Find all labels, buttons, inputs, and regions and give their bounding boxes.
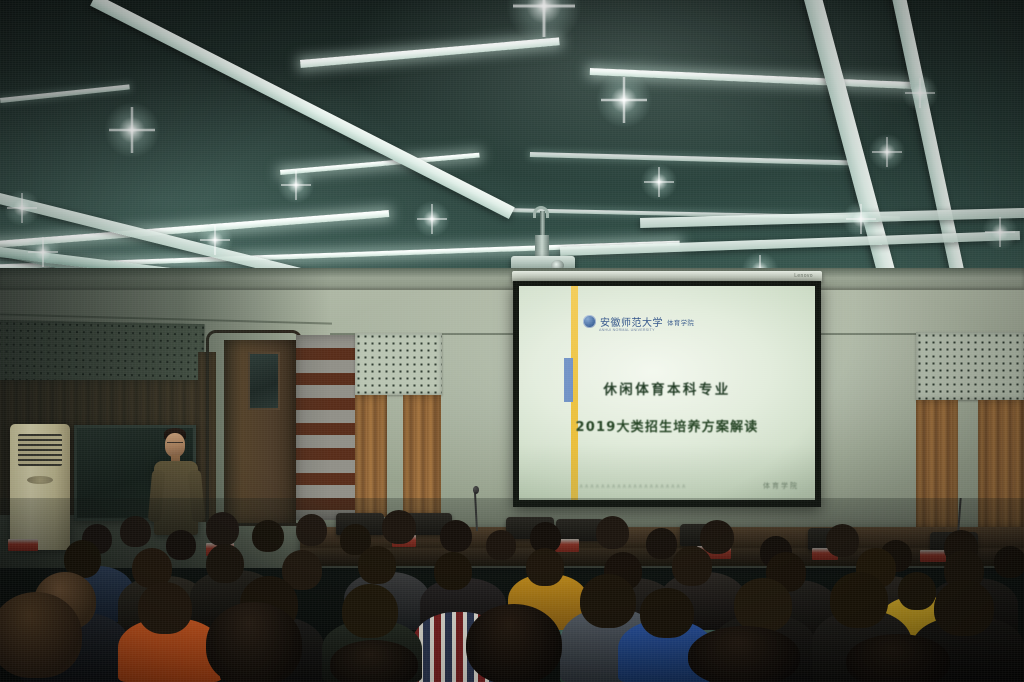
lecture-hall-photo: Lenovo 安徽师范大学 体育学院 ANHUI NORMAL UNIVERSI… [0, 0, 1024, 682]
strip-light [300, 37, 560, 68]
audience-head [486, 530, 516, 560]
audience-head [166, 530, 196, 560]
strip-light [530, 152, 860, 166]
audience-head [382, 510, 416, 544]
audience-head [700, 520, 734, 554]
audience-head [898, 572, 936, 610]
spot-light [413, 200, 451, 238]
audience-head-front [0, 592, 82, 678]
university-seal-icon [583, 315, 596, 328]
slide-footer-label: 体育学院 [763, 481, 799, 491]
audience-head [296, 514, 327, 546]
audience-head-front [688, 626, 800, 682]
university-name-en: ANHUI NORMAL UNIVERSITY [599, 328, 655, 332]
slide-subtitle: 2019大类招生培养方案解读 [519, 416, 815, 435]
projector-rod [540, 211, 545, 237]
ac-vent-icon [18, 434, 62, 466]
projection-screen-frame: 安徽师范大学 体育学院 ANHUI NORMAL UNIVERSITY 休闲体育… [513, 281, 821, 507]
audience-head [672, 546, 712, 586]
spot-light [103, 101, 161, 159]
audience-head [206, 544, 244, 583]
ceiling-beam [90, 0, 515, 219]
audience-head [580, 574, 636, 628]
audience-head [596, 516, 629, 549]
audience-head [120, 516, 151, 547]
department-name-cn: 体育学院 [667, 317, 694, 327]
presenter-glasses-icon [167, 442, 183, 445]
audience-head-front [206, 602, 302, 682]
acoustic-panel-right [916, 332, 1024, 400]
microphone-head-icon [473, 486, 479, 494]
audience-head [826, 524, 859, 557]
housing-brand-label: Lenovo [794, 273, 813, 279]
presenter-head [165, 433, 185, 457]
ceiling [0, 0, 1024, 286]
audience-head [138, 582, 192, 634]
slide-title: 休闲体育本科专业 [519, 378, 815, 398]
audience-head [358, 546, 396, 584]
audience-head [934, 580, 994, 636]
audience-head [434, 552, 472, 590]
audience-head [734, 578, 792, 632]
slide-university-logo: 安徽师范大学 体育学院 [583, 314, 694, 329]
strip-light [0, 84, 130, 103]
audience-head-front [330, 640, 418, 682]
ceiling-beam [640, 208, 1024, 228]
audience-head [252, 520, 284, 552]
strip-light [280, 153, 480, 175]
audience-head [646, 528, 677, 559]
audience-head [206, 512, 239, 546]
strip-light [590, 68, 920, 89]
spot-light [868, 133, 906, 171]
spot-light [595, 71, 653, 129]
audience-head [994, 546, 1024, 578]
audience-head [830, 572, 888, 628]
university-name-cn: 安徽师范大学 [600, 314, 663, 329]
audience-head-front [466, 604, 562, 682]
audience-head [640, 588, 694, 638]
audience-head [526, 548, 564, 586]
audience-head [440, 520, 472, 552]
audience-head [342, 584, 398, 638]
spot-light [640, 163, 678, 201]
acoustic-panel-center [355, 333, 442, 395]
projection-screen: 安徽师范大学 体育学院 ANHUI NORMAL UNIVERSITY 休闲体育… [519, 286, 815, 500]
audience-head-front [846, 634, 950, 682]
ac-badge-icon [27, 476, 53, 484]
